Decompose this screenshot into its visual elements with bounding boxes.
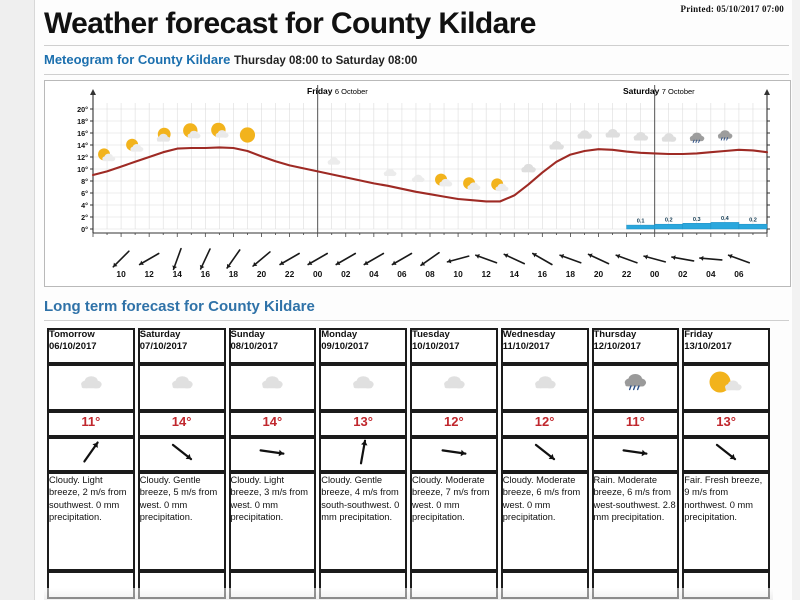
svg-text:14: 14: [510, 269, 520, 279]
cloudy-icon: [65, 366, 117, 404]
wind-arrow-east-icon: [249, 439, 295, 465]
svg-text:14°: 14°: [77, 141, 88, 150]
table-row-temp: 11°14°14°13°12°12°11°13°: [47, 411, 770, 437]
forecast-temperature-value: 14°: [172, 414, 192, 429]
forecast-day-name: Thursday: [594, 330, 678, 341]
partly-sunny-icon: [700, 366, 752, 404]
forecast-header-friday: Friday13/10/2017: [682, 328, 770, 364]
forecast-date: 08/10/2017: [231, 341, 315, 352]
svg-text:02: 02: [341, 269, 351, 279]
forecast-icon-cell: [410, 364, 498, 411]
forecast-header-wednesday: Wednesday11/10/2017: [501, 328, 589, 364]
forecast-description-text: Cloudy. Light breeze, 2 m/s from southwe…: [49, 474, 133, 523]
forecast-wind-cell: [410, 437, 498, 472]
forecast-day-name: Sunday: [231, 330, 315, 341]
cloudy-icon: [337, 366, 389, 404]
forecast-description-cell: Rain. Moderate breeze, 6 m/s from west-s…: [592, 472, 680, 571]
meteogram-heading: Meteogram for County Kildare Thursday 08…: [44, 52, 417, 67]
forecast-day-name: Friday: [684, 330, 768, 341]
svg-text:16: 16: [201, 269, 211, 279]
meteogram-svg: 0°2°4°6°8°10°12°14°16°18°20° 10121416182…: [45, 81, 788, 284]
page-left-margin: [0, 0, 35, 600]
svg-text:0.2: 0.2: [665, 218, 673, 224]
forecast-day-name: Tomorrow: [49, 330, 133, 341]
cloudy-icon: [246, 366, 298, 404]
document-header: Printed: 05/10/2017 07:00 Weather foreca…: [44, 2, 792, 40]
forecast-description-text: Cloudy. Moderate breeze, 7 m/s from west…: [412, 474, 496, 523]
svg-text:14: 14: [173, 269, 183, 279]
table-row-header: Tomorrow06/10/2017Saturday07/10/2017Sund…: [47, 328, 770, 364]
forecast-icon-cell: [229, 364, 317, 411]
svg-text:0.1: 0.1: [637, 219, 645, 225]
long-term-divider: [44, 320, 789, 321]
long-term-forecast-table: Tomorrow06/10/2017Saturday07/10/2017Sund…: [44, 328, 773, 599]
svg-text:0.2: 0.2: [749, 218, 757, 224]
forecast-date: 13/10/2017: [684, 341, 768, 352]
svg-text:10°: 10°: [77, 165, 88, 174]
forecast-description-cell: Cloudy. Light breeze, 3 m/s from west. 0…: [229, 472, 317, 571]
svg-text:2°: 2°: [81, 213, 88, 222]
wind-arrow-north-icon: [340, 439, 386, 465]
forecast-description-cell: Cloudy. Light breeze, 2 m/s from southwe…: [47, 472, 135, 571]
forecast-day-name: Wednesday: [503, 330, 587, 341]
meteogram-heading-range: Thursday 08:00 to Saturday 08:00: [234, 55, 417, 67]
forecast-date: 10/10/2017: [412, 341, 496, 352]
cloudy-icon: [519, 366, 571, 404]
forecast-header-tomorrow: Tomorrow06/10/2017: [47, 328, 135, 364]
cloudy-icon: [156, 366, 208, 404]
svg-text:16: 16: [538, 269, 548, 279]
svg-text:22: 22: [285, 269, 295, 279]
forecast-header-thursday: Thursday12/10/2017: [592, 328, 680, 364]
svg-text:04: 04: [369, 269, 379, 279]
svg-text:12°: 12°: [77, 153, 88, 162]
forecast-icon-cell: [501, 364, 589, 411]
svg-text:04: 04: [706, 269, 716, 279]
svg-text:6°: 6°: [81, 189, 88, 198]
rain-icon: [609, 366, 661, 404]
forecast-day-name: Saturday: [140, 330, 224, 341]
svg-text:08: 08: [425, 269, 435, 279]
svg-text:20: 20: [257, 269, 267, 279]
forecast-temperature-value: 14°: [263, 414, 283, 429]
svg-text:06: 06: [397, 269, 407, 279]
wind-arrow-northeast-icon: [68, 439, 114, 465]
svg-text:02: 02: [678, 269, 688, 279]
forecast-day-name: Monday: [321, 330, 405, 341]
svg-text:20: 20: [594, 269, 604, 279]
table-row-wind: [47, 437, 770, 472]
wind-arrow-southeast-icon: [522, 439, 568, 465]
forecast-icon-cell: [319, 364, 407, 411]
forecast-temperature-cell: 14°: [229, 411, 317, 437]
forecast-description-text: Cloudy. Gentle breeze, 5 m/s from west. …: [140, 474, 224, 523]
forecast-date: 12/10/2017: [594, 341, 678, 352]
forecast-wind-cell: [501, 437, 589, 472]
svg-text:00: 00: [313, 269, 323, 279]
forecast-temperature-cell: 13°: [319, 411, 407, 437]
forecast-temperature-value: 13°: [353, 414, 373, 429]
forecast-date: 07/10/2017: [140, 341, 224, 352]
wind-arrow-southeast-icon: [703, 439, 749, 465]
forecast-description-text: Cloudy. Moderate breeze, 6 m/s from west…: [503, 474, 587, 523]
svg-text:00: 00: [650, 269, 660, 279]
wind-arrow-east-icon: [431, 439, 477, 465]
forecast-description-cell: Cloudy. Moderate breeze, 7 m/s from west…: [410, 472, 498, 571]
forecast-temperature-value: 12°: [444, 414, 464, 429]
forecast-temperature-value: 13°: [716, 414, 736, 429]
meteogram-heading-location: Meteogram for County Kildare: [44, 52, 230, 67]
svg-text:18°: 18°: [77, 117, 88, 126]
meteogram-chart: 0°2°4°6°8°10°12°14°16°18°20° 10121416182…: [44, 80, 791, 287]
forecast-icon-cell: [47, 364, 135, 411]
wind-arrow-east-icon: [612, 439, 658, 465]
forecast-header-sunday: Sunday08/10/2017: [229, 328, 317, 364]
svg-text:10: 10: [116, 269, 126, 279]
svg-text:0°: 0°: [81, 225, 88, 234]
forecast-icon-cell: [138, 364, 226, 411]
forecast-description-text: Cloudy. Gentle breeze, 4 m/s from south-…: [321, 474, 405, 523]
svg-text:18: 18: [566, 269, 576, 279]
svg-text:20°: 20°: [77, 105, 88, 114]
forecast-date: 09/10/2017: [321, 341, 405, 352]
forecast-date: 11/10/2017: [503, 341, 587, 352]
forecast-wind-cell: [229, 437, 317, 472]
forecast-description-cell: Cloudy. Gentle breeze, 4 m/s from south-…: [319, 472, 407, 571]
forecast-wind-cell: [47, 437, 135, 472]
forecast-day-name: Tuesday: [412, 330, 496, 341]
forecast-header-tuesday: Tuesday10/10/2017: [410, 328, 498, 364]
chart-day-label-friday: Friday 6 October: [307, 86, 368, 96]
forecast-description-cell: Fair. Fresh breeze, 9 m/s from northwest…: [682, 472, 770, 571]
forecast-temperature-cell: 11°: [47, 411, 135, 437]
forecast-wind-cell: [682, 437, 770, 472]
forecast-icon-cell: [592, 364, 680, 411]
forecast-description-text: Fair. Fresh breeze, 9 m/s from northwest…: [684, 474, 768, 523]
forecast-description-text: Cloudy. Light breeze, 3 m/s from west. 0…: [231, 474, 315, 523]
forecast-temperature-cell: 12°: [501, 411, 589, 437]
forecast-temperature-cell: 14°: [138, 411, 226, 437]
forecast-temperature-cell: 11°: [592, 411, 680, 437]
chart-day-label-saturday: Saturday 7 October: [623, 86, 695, 96]
forecast-date: 06/10/2017: [49, 341, 133, 352]
forecast-wind-cell: [592, 437, 680, 472]
page-bottom-edge: [44, 588, 773, 600]
cloudy-icon: [428, 366, 480, 404]
table-row-description: Cloudy. Light breeze, 2 m/s from southwe…: [47, 472, 770, 571]
forecast-temperature-cell: 13°: [682, 411, 770, 437]
forecast-header-monday: Monday09/10/2017: [319, 328, 407, 364]
meteogram-divider: [44, 74, 789, 75]
svg-text:8°: 8°: [81, 177, 88, 186]
svg-text:06: 06: [734, 269, 744, 279]
svg-text:12: 12: [145, 269, 155, 279]
forecast-wind-cell: [319, 437, 407, 472]
forecast-temperature-cell: 12°: [410, 411, 498, 437]
svg-text:16°: 16°: [77, 129, 88, 138]
long-term-forecast-title: Long term forecast for County Kildare: [44, 298, 315, 315]
svg-text:10: 10: [453, 269, 463, 279]
forecast-temperature-value: 11°: [81, 414, 100, 429]
svg-text:0.3: 0.3: [693, 217, 701, 223]
forecast-description-cell: Cloudy. Moderate breeze, 6 m/s from west…: [501, 472, 589, 571]
forecast-icon-cell: [682, 364, 770, 411]
forecast-description-text: Rain. Moderate breeze, 6 m/s from west-s…: [594, 474, 678, 523]
printed-timestamp: Printed: 05/10/2017 07:00: [681, 4, 785, 14]
forecast-wind-cell: [138, 437, 226, 472]
forecast-header-saturday: Saturday07/10/2017: [138, 328, 226, 364]
header-divider: [44, 45, 789, 46]
page-right-margin: [792, 0, 800, 600]
forecast-temperature-value: 12°: [535, 414, 555, 429]
svg-text:4°: 4°: [81, 201, 88, 210]
forecast-description-cell: Cloudy. Gentle breeze, 5 m/s from west. …: [138, 472, 226, 571]
svg-text:12: 12: [482, 269, 492, 279]
svg-text:0.4: 0.4: [721, 216, 730, 222]
wind-arrow-southeast-icon: [159, 439, 205, 465]
svg-text:18: 18: [229, 269, 239, 279]
page-root: Printed: 05/10/2017 07:00 Weather foreca…: [0, 0, 800, 600]
svg-text:22: 22: [622, 269, 632, 279]
forecast-temperature-value: 11°: [626, 414, 645, 429]
table-row-icon: [47, 364, 770, 411]
